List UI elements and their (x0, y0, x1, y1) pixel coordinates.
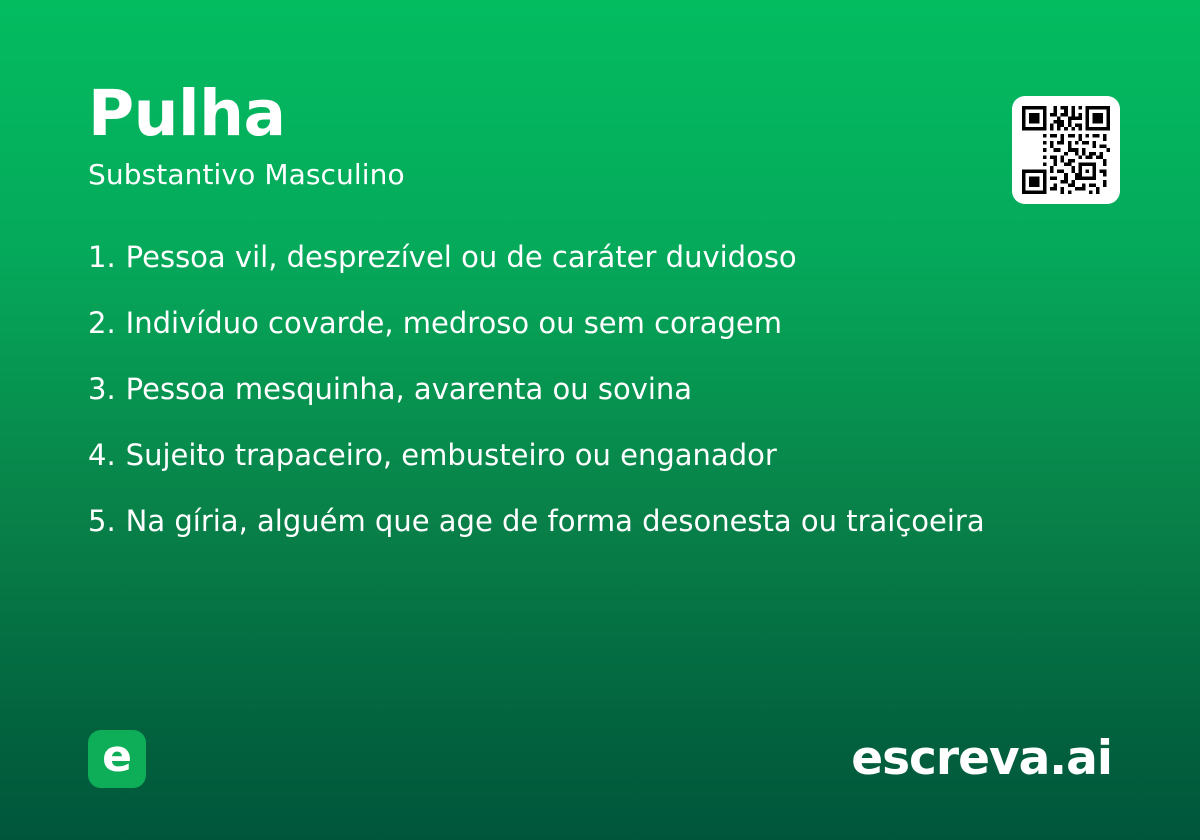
definition-list: 1. Pessoa vil, desprezível ou de caráter… (88, 243, 1130, 573)
definition-text: Indivíduo covarde, medroso ou sem corage… (126, 309, 782, 338)
brand-logo-letter: e (102, 735, 132, 779)
definition-index: 3. (88, 375, 126, 404)
definition-text: Sujeito trapaceiro, embusteiro ou engana… (126, 441, 777, 470)
page-title: Pulha (88, 82, 1112, 145)
list-item: 3. Pessoa mesquinha, avarenta ou sovina (88, 375, 1130, 441)
definition-text: Pessoa mesquinha, avarenta ou sovina (126, 375, 692, 404)
word-class-label: Substantivo Masculino (88, 145, 1112, 189)
definition-index: 2. (88, 309, 126, 338)
list-item: 1. Pessoa vil, desprezível ou de caráter… (88, 243, 1130, 309)
definition-text: Na gíria, alguém que age de forma desone… (126, 507, 985, 536)
brand-logo-icon: e (88, 730, 146, 788)
dictionary-card: Pulha Substantivo Masculino (0, 0, 1200, 840)
definition-index: 4. (88, 441, 126, 470)
card-footer: e escreva.ai (88, 730, 1112, 788)
qr-code[interactable] (1012, 96, 1120, 204)
definition-text: Pessoa vil, desprezível ou de caráter du… (126, 243, 797, 272)
brand-wordmark: escreva.ai (851, 732, 1112, 786)
definition-index: 5. (88, 507, 126, 536)
qr-code-icon (1022, 106, 1110, 194)
definition-index: 1. (88, 243, 126, 272)
card-header: Pulha Substantivo Masculino (88, 82, 1112, 189)
list-item: 4. Sujeito trapaceiro, embusteiro ou eng… (88, 441, 1130, 507)
list-item: 2. Indivíduo covarde, medroso ou sem cor… (88, 309, 1130, 375)
list-item: 5. Na gíria, alguém que age de forma des… (88, 507, 1130, 573)
